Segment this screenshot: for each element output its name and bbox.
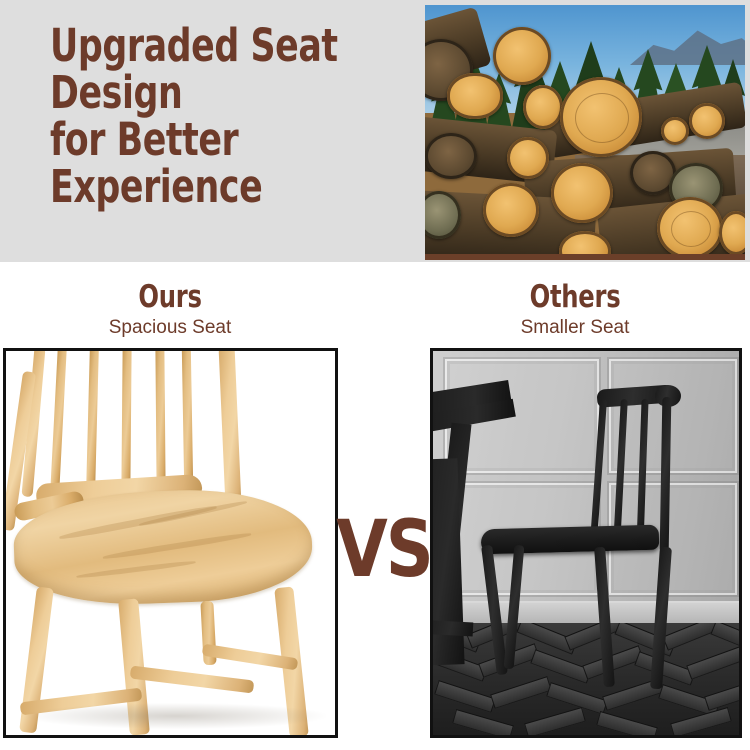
- ours-subtitle: Spacious Seat: [0, 316, 340, 339]
- versus-badge: VS: [340, 505, 427, 595]
- log-pile: [425, 5, 745, 254]
- stacked-timber-logs-photo: [425, 5, 745, 260]
- headline-text: Upgraded Seat Design for Better Experien…: [50, 22, 368, 210]
- chair-shadow: [26, 703, 326, 729]
- wood-chair-image: [6, 351, 335, 735]
- product-comparison-infographic: Upgraded Seat Design for Better Experien…: [0, 0, 750, 750]
- header-band: Upgraded Seat Design for Better Experien…: [0, 0, 750, 262]
- others-subtitle: Smaller Seat: [405, 316, 745, 339]
- others-chair-panel: [430, 348, 742, 738]
- ours-label-column: Ours Spacious Seat: [0, 262, 340, 339]
- others-title: Others: [427, 280, 723, 314]
- ours-chair-panel: [3, 348, 338, 738]
- herringbone-floor: [433, 623, 739, 735]
- ours-title: Ours: [22, 280, 318, 314]
- comparison-labels: Ours Spacious Seat Others Smaller Seat: [0, 262, 750, 348]
- others-label-column: Others Smaller Seat: [405, 262, 745, 339]
- narrow-seat: [481, 525, 660, 555]
- black-chair-image: [433, 351, 739, 735]
- photo-inner: [425, 5, 745, 254]
